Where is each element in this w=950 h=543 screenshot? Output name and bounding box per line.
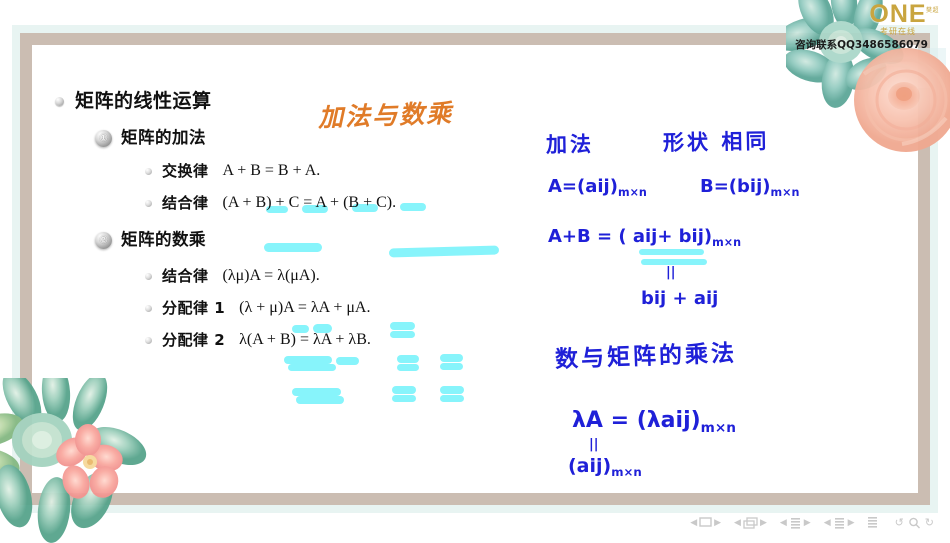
handwriting-matrix-a: A=(aij)m×n	[548, 176, 647, 199]
frames-icon[interactable]	[743, 517, 758, 529]
section-2-item-3: 分配律 2 λ(A + B) = λA + λB.	[145, 329, 575, 351]
slide-canvas: ONE 考研在线 樊超 咨询联系QQ3486586079	[0, 0, 950, 535]
bullet-small-icon	[145, 168, 152, 175]
number-sphere-1-icon: ①	[95, 130, 112, 147]
handwriting-addition-title-left: 加法	[546, 128, 595, 159]
heading-annotation-handwritten: 加法与数乘	[317, 94, 453, 135]
next-subsection-icon[interactable]: ▶	[804, 517, 811, 529]
slide-content: 矩阵的线性运算 ① 矩阵的加法 交换律 A + B = B + A. 结合律 (…	[55, 88, 575, 351]
handwriting-commuted-text: bij + aij	[641, 288, 718, 309]
handwriting-matrix-sum-commuted: bij + aij	[641, 288, 718, 309]
handwriting-addition-title-right: 形状 相同	[663, 125, 770, 157]
beamer-navigation-bar[interactable]: ◀ ▶ ◀ ▶ ◀ ▶ ◀	[688, 516, 936, 529]
section-2-row: ② 矩阵的数乘	[95, 228, 575, 252]
item-label: 分配律 2	[162, 329, 225, 351]
section-2-item-2: 分配律 1 (λ + μ)A = λA + μA.	[145, 297, 575, 319]
bullet-small-icon	[145, 337, 152, 344]
item-label: 结合律	[162, 265, 209, 287]
item-formula: (A + B) + C = A + (B + C).	[223, 192, 397, 214]
next-slide-icon[interactable]: ▶	[714, 517, 721, 529]
item-formula: A + B = B + A.	[223, 160, 321, 182]
section-icon[interactable]	[833, 517, 846, 529]
prev-slide-icon[interactable]: ◀	[690, 517, 697, 529]
section-1-item-1: 交换律 A + B = B + A.	[145, 160, 575, 182]
bullet-small-icon	[145, 200, 152, 207]
document-icon[interactable]	[866, 517, 879, 529]
section-2-item-1: 结合律 (λμ)A = λ(μA).	[145, 265, 575, 287]
handwriting-matrix-b: B=(bij)m×n	[700, 176, 799, 199]
handwriting-scalar-equals-glyph: ||	[589, 437, 599, 452]
subsection-icon[interactable]	[789, 517, 802, 529]
bullet-small-icon	[145, 273, 152, 280]
handwriting-scalar-main-text: λA = (λaij)	[572, 408, 701, 433]
item-formula: λ(A + B) = λA + λB.	[239, 329, 371, 351]
section-1-item-2: 结合律 (A + B) + C = A + (B + C).	[145, 192, 575, 214]
frame-icon[interactable]	[699, 517, 712, 528]
bullet-small-icon	[145, 305, 152, 312]
handwriting-scalar-under-sub: m×n	[611, 465, 642, 479]
nav-group-history[interactable]: ↺ ↻	[893, 516, 936, 529]
nav-group-section[interactable]: ◀ ▶	[822, 517, 857, 529]
handwriting-scalar-under: (aij)m×n	[568, 455, 642, 479]
handwriting-scalar-main: λA = (λaij)m×n	[572, 408, 736, 436]
number-sphere-2-icon: ②	[95, 232, 112, 249]
nav-group-document[interactable]	[866, 517, 879, 529]
nav-group-subsection[interactable]: ◀ ▶	[778, 517, 813, 529]
handwriting-equals-mark: ||	[666, 265, 676, 280]
handwriting-matrix-a-main: A=(aij)	[548, 176, 618, 197]
item-label: 交换律	[162, 160, 209, 182]
item-formula: (λ + μ)A = λA + μA.	[239, 297, 370, 319]
brand-logo: ONE 考研在线	[852, 2, 944, 37]
handwriting-scalar-title: 数与矩阵的乘法	[554, 334, 737, 374]
handwriting-matrix-a-sub: m×n	[618, 186, 647, 199]
prev-frame-icon[interactable]: ◀	[734, 517, 741, 529]
next-section-icon[interactable]: ▶	[848, 517, 855, 529]
handwriting-matrix-sum-main: A+B = ( aij+ bij)	[548, 226, 712, 247]
handwriting-matrix-b-sub: m×n	[770, 186, 799, 199]
section-2-title: 矩阵的数乘	[121, 228, 206, 252]
handwriting-scalar-under-text: (aij)	[568, 455, 611, 477]
brand-logo-subtitle: 考研在线	[852, 27, 944, 37]
next-frame-icon[interactable]: ▶	[760, 517, 767, 529]
search-icon[interactable]	[908, 517, 921, 529]
handwriting-scalar-equals-mark: ||	[589, 437, 599, 452]
prev-subsection-icon[interactable]: ◀	[780, 517, 787, 529]
prev-section-icon[interactable]: ◀	[824, 517, 831, 529]
item-label: 结合律	[162, 192, 209, 214]
nav-group-slide[interactable]: ◀ ▶	[688, 517, 723, 529]
page-title: 矩阵的线性运算	[75, 88, 212, 114]
nav-group-frame[interactable]: ◀ ▶	[732, 517, 769, 529]
back-icon[interactable]: ↺	[895, 516, 904, 529]
brand-logo-text: ONE	[852, 2, 944, 27]
item-label: 分配律 1	[162, 297, 225, 319]
handwriting-equals-glyph: ||	[666, 265, 676, 280]
handwriting-matrix-b-main: B=(bij)	[700, 176, 770, 197]
heading-row: 矩阵的线性运算	[55, 88, 575, 114]
qq-contact-watermark: 咨询联系QQ3486586079	[795, 37, 928, 52]
handwriting-scalar-main-sub: m×n	[701, 420, 736, 436]
bullet-sphere-icon	[55, 97, 64, 106]
section-1-title: 矩阵的加法	[121, 126, 206, 150]
handwriting-matrix-sum: A+B = ( aij+ bij)m×n	[548, 226, 741, 249]
forward-icon[interactable]: ↻	[925, 516, 934, 529]
item-formula: (λμ)A = λ(μA).	[223, 265, 320, 287]
handwriting-matrix-sum-sub: m×n	[712, 236, 741, 249]
